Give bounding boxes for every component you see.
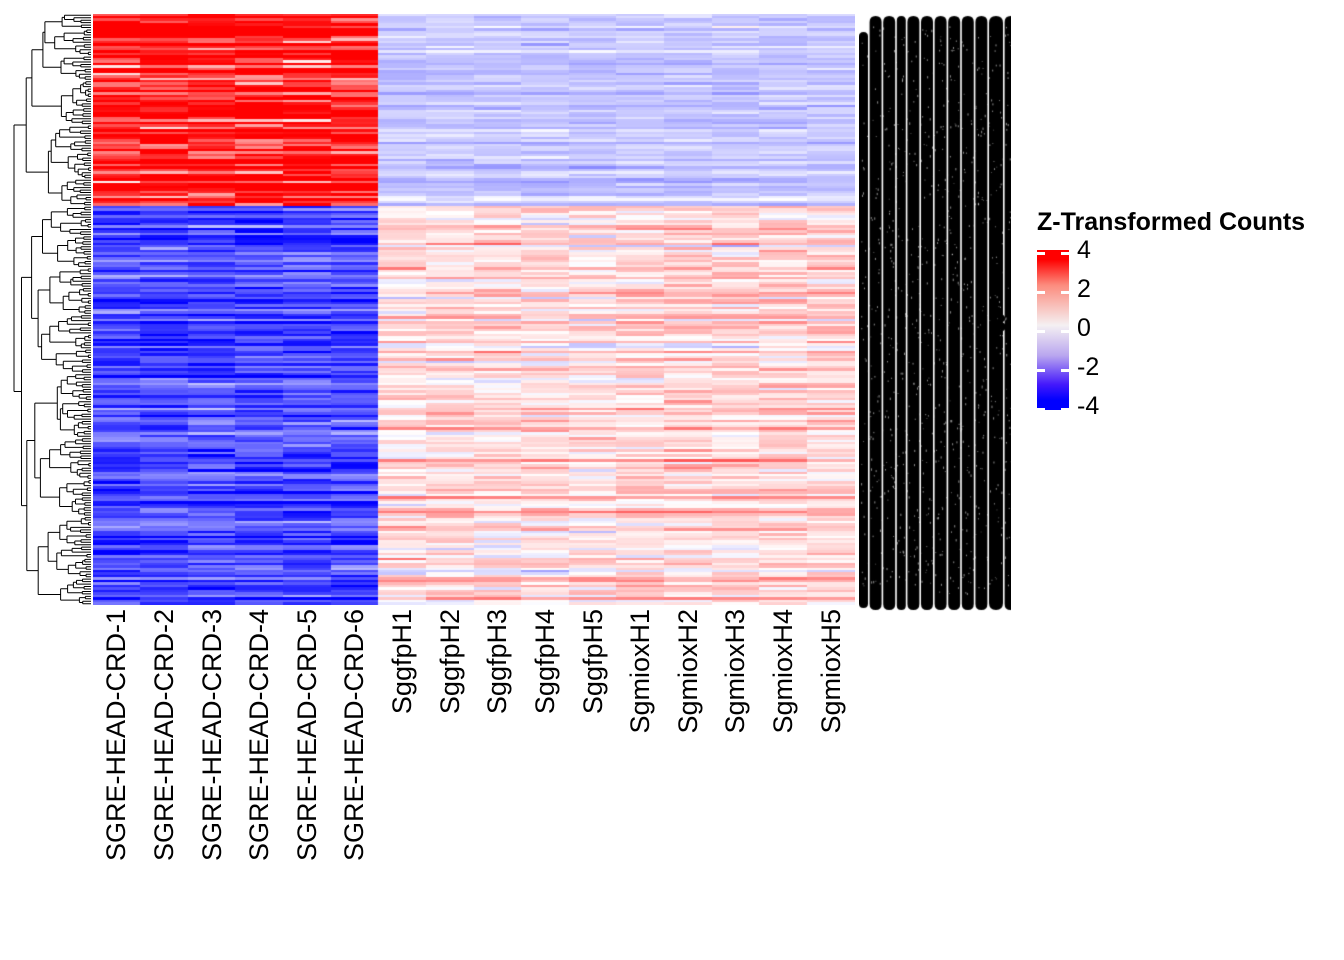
column-label: SgmioxH1 [617, 609, 665, 939]
column-label-text: SgmioxH4 [760, 609, 807, 734]
dendrogram-branches [14, 15, 91, 604]
column-label: SGRE-HEAD-CRD-4 [236, 609, 284, 939]
column-label-text: SggfpH5 [570, 609, 617, 714]
legend-tick-label: 4 [1077, 238, 1091, 263]
row-names-canvas [859, 14, 1011, 612]
column-label: SGRE-HEAD-CRD-6 [331, 609, 379, 939]
legend-tick-mark [1061, 252, 1069, 255]
column-label-text: SgmioxH2 [665, 609, 712, 734]
column-label-text: SgmioxH5 [808, 609, 855, 734]
legend-tick-label: 2 [1077, 277, 1091, 302]
column-label-text: SgmioxH3 [712, 609, 759, 734]
legend: Z-Transformed Counts 420-2-4 [1037, 208, 1337, 418]
column-label-text: SGRE-HEAD-CRD-2 [141, 609, 188, 861]
column-label: SGRE-HEAD-CRD-2 [141, 609, 189, 939]
legend-tick-mark [1061, 408, 1069, 411]
legend-tick-mark [1061, 330, 1069, 333]
legend-tick-mark [1037, 330, 1045, 333]
column-label-text: SGRE-HEAD-CRD-3 [189, 609, 236, 861]
column-label: SgmioxH5 [807, 609, 855, 939]
legend-tick-mark [1061, 369, 1069, 372]
column-label: SggfpH3 [474, 609, 522, 939]
column-label: SggfpH4 [522, 609, 570, 939]
column-label-text: SgmioxH1 [617, 609, 664, 734]
column-label: SGRE-HEAD-CRD-3 [188, 609, 236, 939]
legend-title: Z-Transformed Counts [1037, 208, 1305, 237]
legend-tick-mark [1037, 291, 1045, 294]
column-label-text: SGRE-HEAD-CRD-4 [236, 609, 283, 861]
legend-colorbar [1037, 250, 1069, 410]
column-label-text: SGRE-HEAD-CRD-1 [93, 609, 140, 861]
column-label-axis: SGRE-HEAD-CRD-1SGRE-HEAD-CRD-2SGRE-HEAD-… [93, 609, 855, 949]
legend-tick-mark [1037, 369, 1045, 372]
column-label-text: SggfpH2 [427, 609, 474, 714]
column-label-text: SggfpH4 [522, 609, 569, 714]
column-label: SggfpH2 [426, 609, 474, 939]
legend-tick-mark [1037, 408, 1045, 411]
legend-tick-label: -2 [1077, 355, 1099, 380]
legend-tick-label: -4 [1077, 394, 1099, 419]
legend-tick-label: 0 [1077, 316, 1091, 341]
row-dendrogram-tree [13, 14, 91, 605]
row-names-block [859, 14, 1011, 612]
column-label-text: SGRE-HEAD-CRD-6 [331, 609, 378, 861]
column-label: SgmioxH4 [760, 609, 808, 939]
column-label: SGRE-HEAD-CRD-5 [284, 609, 332, 939]
column-label: SgmioxH2 [665, 609, 713, 939]
heatmap-canvas [93, 14, 855, 605]
legend-tick-mark [1037, 252, 1045, 255]
row-dendrogram [13, 14, 91, 605]
column-label: SggfpH5 [569, 609, 617, 939]
legend-tick-mark [1061, 291, 1069, 294]
heatmap-matrix [93, 14, 855, 605]
column-label-text: SggfpH3 [474, 609, 521, 714]
column-label: SggfpH1 [379, 609, 427, 939]
column-label-text: SggfpH1 [379, 609, 426, 714]
column-label: SGRE-HEAD-CRD-1 [93, 609, 141, 939]
heatmap-figure: SGRE-HEAD-CRD-1SGRE-HEAD-CRD-2SGRE-HEAD-… [0, 0, 1344, 960]
column-label: SgmioxH3 [712, 609, 760, 939]
column-label-text: SGRE-HEAD-CRD-5 [284, 609, 331, 861]
